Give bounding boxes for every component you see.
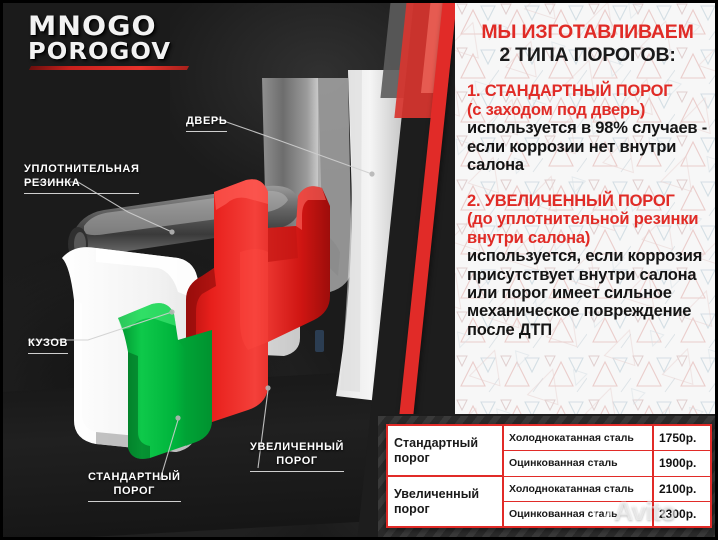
callout-door: ДВЕРЬ <box>186 100 227 146</box>
brand-logo-underline <box>29 66 189 70</box>
price-material: Оцинкованная сталь <box>502 502 652 526</box>
price-material: Холоднокатанная сталь <box>502 426 652 450</box>
poster-root: ДВЕРЬ УПЛОТНИТЕЛЬНАЯ РЕЗИНКА КУЗОВ СТАНД… <box>0 0 718 540</box>
sill-clip <box>315 330 324 352</box>
price-group-name-standard: Стандартный порог <box>388 426 502 475</box>
price-table: Стандартный порог Увеличенный порог Холо… <box>386 424 712 528</box>
price-table-group-names: Стандартный порог Увеличенный порог <box>388 426 502 526</box>
info-block-extended-body: используется, если коррозия присутствует… <box>467 247 708 339</box>
price-material: Оцинкованная сталь <box>502 451 652 475</box>
panel-header-line2: 2 ТИПА ПОРОГОВ: <box>467 45 708 66</box>
callout-extended-label: УВЕЛИЧЕННЫЙ ПОРОГ <box>250 440 344 472</box>
info-block-extended: 2. УВЕЛИЧЕННЫЙ ПОРОГ (до уплотнительной … <box>467 192 708 340</box>
price-value: 2300р. <box>652 502 710 526</box>
panel-header-line1: МЫ ИЗГОТАВЛИВАЕМ <box>467 22 708 43</box>
table-row: Оцинкованная сталь 1900р. <box>502 450 710 475</box>
callout-body-label: КУЗОВ <box>28 336 68 354</box>
price-group-name-extended: Увеличенный порог <box>388 475 502 526</box>
info-block-standard-subtitle: (с заходом под дверь) <box>467 101 708 119</box>
callout-extended: УВЕЛИЧЕННЫЙ ПОРОГ <box>250 426 344 486</box>
price-table-rows: Холоднокатанная сталь 1750р. Оцинкованна… <box>502 426 710 526</box>
price-material: Холоднокатанная сталь <box>502 477 652 501</box>
info-block-standard-body: используется в 98% случаев - если корроз… <box>467 119 708 174</box>
info-block-standard-title: 1. СТАНДАРТНЫЙ ПОРОГ <box>467 82 708 100</box>
info-block-standard: 1. СТАНДАРТНЫЙ ПОРОГ (с заходом под двер… <box>467 82 708 174</box>
price-value: 2100р. <box>652 477 710 501</box>
table-row: Холоднокатанная сталь 1750р. <box>502 426 710 450</box>
callout-seal: УПЛОТНИТЕЛЬНАЯ РЕЗИНКА <box>24 148 139 208</box>
callout-standard: СТАНДАРТНЫЙ ПОРОГ <box>88 456 181 516</box>
price-value: 1900р. <box>652 451 710 475</box>
callout-standard-label: СТАНДАРТНЫЙ ПОРОГ <box>88 470 181 502</box>
callout-door-label: ДВЕРЬ <box>186 114 227 132</box>
table-row: Оцинкованная сталь 2300р. <box>502 501 710 526</box>
info-block-extended-title: 2. УВЕЛИЧЕННЫЙ ПОРОГ <box>467 192 708 210</box>
panel-header: МЫ ИЗГОТАВЛИВАЕМ 2 ТИПА ПОРОГОВ: <box>467 22 708 65</box>
price-value: 1750р. <box>652 426 710 450</box>
table-row: Холоднокатанная сталь 2100р. <box>502 476 710 501</box>
brand-logo-line2: POROGOV <box>28 41 201 64</box>
brand-logo: MNOGO POROGOV <box>28 14 193 76</box>
callout-body: КУЗОВ <box>28 322 68 368</box>
callout-seal-label: УПЛОТНИТЕЛЬНАЯ РЕЗИНКА <box>24 162 139 194</box>
brand-logo-line1: MNOGO <box>28 14 201 40</box>
info-block-extended-subtitle: (до уплотнительной резинки внутри салона… <box>467 210 708 247</box>
